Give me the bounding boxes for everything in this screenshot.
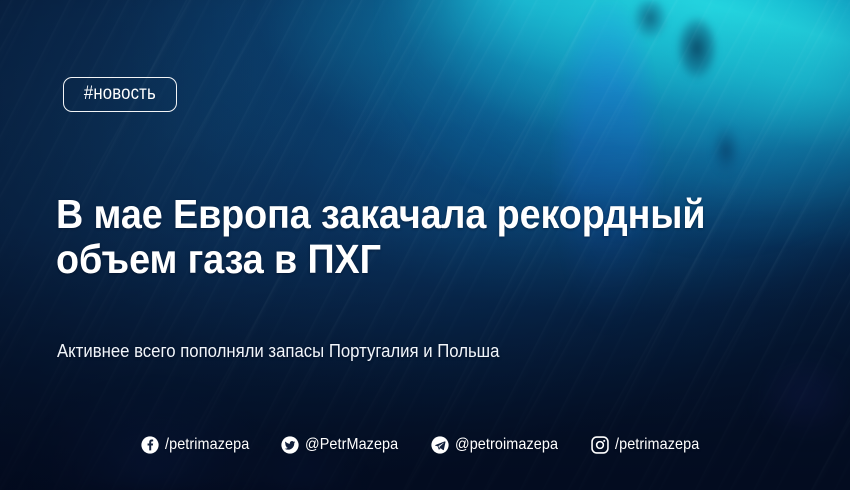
telegram-icon	[431, 436, 449, 454]
social-handle-facebook: /petrimazepa	[165, 437, 249, 453]
social-handle-instagram: /petrimazepa	[615, 437, 699, 453]
tag-badge[interactable]: #новость	[63, 77, 177, 112]
subtitle: Активнее всего пополняли запасы Португал…	[57, 340, 708, 362]
headline: В мае Европа закачала рекордный объем га…	[56, 192, 711, 282]
social-handle-telegram: @petroimazepa	[455, 437, 558, 453]
tag-badge-label: #новость	[84, 84, 156, 103]
facebook-icon	[141, 436, 159, 454]
social-item-facebook[interactable]: /petrimazepa	[141, 436, 259, 454]
card-content: #новость В мае Европа закачала рекордный…	[0, 0, 850, 490]
social-bar: /petrimazepa @PetrMazepa	[0, 436, 850, 454]
social-item-telegram[interactable]: @petroimazepa	[431, 436, 570, 454]
social-item-twitter[interactable]: @PetrMazepa	[281, 436, 409, 454]
news-card: #новость В мае Европа закачала рекордный…	[0, 0, 850, 490]
instagram-icon	[591, 436, 609, 454]
twitter-icon	[281, 436, 299, 454]
social-handle-twitter: @PetrMazepa	[305, 437, 398, 453]
social-item-instagram[interactable]: /petrimazepa	[591, 436, 709, 454]
